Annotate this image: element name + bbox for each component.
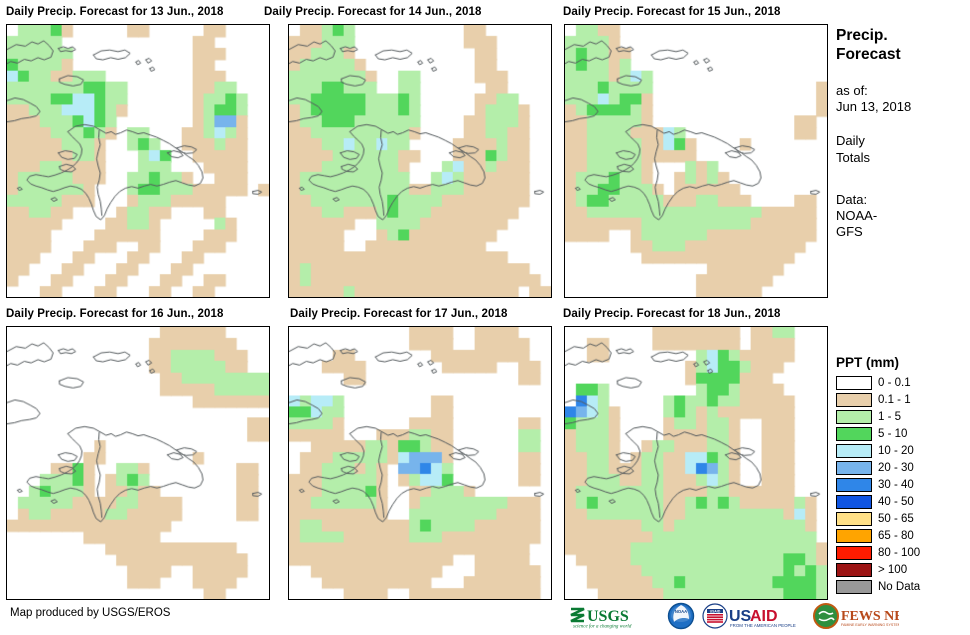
noaa-logo: NOAA: [667, 602, 695, 630]
legend-rows: 0 - 0.10.1 - 11 - 55 - 1010 - 2020 - 303…: [836, 374, 970, 595]
precip-map-panel-6[interactable]: [564, 326, 828, 600]
legend-swatch: [836, 529, 872, 543]
legend-swatch: [836, 393, 872, 407]
legend-row: 10 - 20: [836, 442, 970, 459]
legend-label: 30 - 40: [878, 479, 914, 491]
agency-logos: USGS science for a changing world NOAA U…: [568, 601, 899, 631]
precip-map-panel-3[interactable]: [564, 24, 828, 298]
legend-label: 50 - 65: [878, 513, 914, 525]
precip-grid-canvas-5: [289, 327, 551, 599]
legend-swatch: [836, 444, 872, 458]
legend-swatch: [836, 478, 872, 492]
info-title: Precip. Forecast: [836, 26, 970, 65]
info-title-line2: Forecast: [836, 45, 970, 64]
legend-swatch: [836, 376, 872, 390]
panel-title-2: Daily Precip. Forecast for 14 Jun., 2018: [264, 6, 482, 18]
legend-label: 0 - 0.1: [878, 377, 911, 389]
info-panel: Precip. Forecast as of: Jun 13, 2018 Dai…: [836, 26, 970, 241]
precip-map-panel-1[interactable]: [6, 24, 270, 298]
fewsnet-logo: FEWS NET FAMINE EARLY WARNING SYSTEMS NE…: [813, 602, 899, 630]
svg-text:FAMINE EARLY WARNING SYSTEMS N: FAMINE EARLY WARNING SYSTEMS NETWORK: [841, 623, 899, 627]
usaid-logo: USAID US AID FROM THE AMERICAN PEOPLE: [702, 602, 806, 630]
legend-row: 1 - 5: [836, 408, 970, 425]
legend-label: 40 - 50: [878, 496, 914, 508]
precip-grid-canvas-1: [7, 25, 269, 297]
legend-row: No Data: [836, 578, 970, 595]
svg-text:FROM THE AMERICAN PEOPLE: FROM THE AMERICAN PEOPLE: [730, 623, 796, 628]
info-title-line1: Precip.: [836, 26, 970, 45]
legend-label: 0.1 - 1: [878, 394, 911, 406]
legend-swatch: [836, 546, 872, 560]
svg-text:NOAA: NOAA: [675, 609, 687, 614]
legend-label: 5 - 10: [878, 428, 907, 440]
svg-text:USAID: USAID: [710, 609, 721, 613]
legend-row: 65 - 80: [836, 527, 970, 544]
legend-row: 5 - 10: [836, 425, 970, 442]
info-daily-totals: Daily Totals: [836, 133, 970, 166]
panel-title-3: Daily Precip. Forecast for 15 Jun., 2018: [563, 6, 781, 18]
legend-label: 80 - 100: [878, 547, 920, 559]
precip-map-panel-2[interactable]: [288, 24, 552, 298]
legend-row: 40 - 50: [836, 493, 970, 510]
precip-grid-canvas-4: [7, 327, 269, 599]
usgs-logo: USGS science for a changing world: [568, 602, 660, 630]
precip-grid-canvas-2: [289, 25, 551, 297]
legend-swatch: [836, 461, 872, 475]
precip-grid-canvas-3: [565, 25, 827, 297]
legend-swatch: [836, 427, 872, 441]
panel-title-1: Daily Precip. Forecast for 13 Jun., 2018: [6, 6, 224, 18]
legend-swatch: [836, 512, 872, 526]
precip-grid-canvas-6: [565, 327, 827, 599]
legend-label: 20 - 30: [878, 462, 914, 474]
panel-title-6: Daily Precip. Forecast for 18 Jun., 2018: [563, 308, 781, 320]
legend-label: No Data: [878, 581, 920, 593]
legend-row: 50 - 65: [836, 510, 970, 527]
info-data-source: Data: NOAA- GFS: [836, 192, 970, 241]
legend-title: PPT (mm): [836, 355, 970, 370]
legend-row: > 100: [836, 561, 970, 578]
legend-swatch: [836, 563, 872, 577]
legend-row: 80 - 100: [836, 544, 970, 561]
legend-label: > 100: [878, 564, 907, 576]
info-as-of: as of: Jun 13, 2018: [836, 83, 970, 116]
precip-map-panel-5[interactable]: [288, 326, 552, 600]
panel-title-5: Daily Precip. Forecast for 17 Jun., 2018: [290, 308, 508, 320]
svg-text:USGS: USGS: [587, 608, 629, 625]
legend-row: 0.1 - 1: [836, 391, 970, 408]
legend: PPT (mm) 0 - 0.10.1 - 11 - 55 - 1010 - 2…: [836, 355, 970, 595]
legend-swatch: [836, 495, 872, 509]
legend-row: 20 - 30: [836, 459, 970, 476]
map-credit: Map produced by USGS/EROS: [10, 607, 170, 619]
legend-label: 1 - 5: [878, 411, 901, 423]
legend-swatch: [836, 580, 872, 594]
legend-swatch: [836, 410, 872, 424]
legend-label: 65 - 80: [878, 530, 914, 542]
panel-title-4: Daily Precip. Forecast for 16 Jun., 2018: [6, 308, 224, 320]
legend-row: 0 - 0.1: [836, 374, 970, 391]
legend-row: 30 - 40: [836, 476, 970, 493]
svg-text:science for a changing world: science for a changing world: [573, 625, 632, 630]
precip-map-panel-4[interactable]: [6, 326, 270, 600]
svg-text:FEWS NET: FEWS NET: [841, 609, 899, 624]
legend-label: 10 - 20: [878, 445, 914, 457]
